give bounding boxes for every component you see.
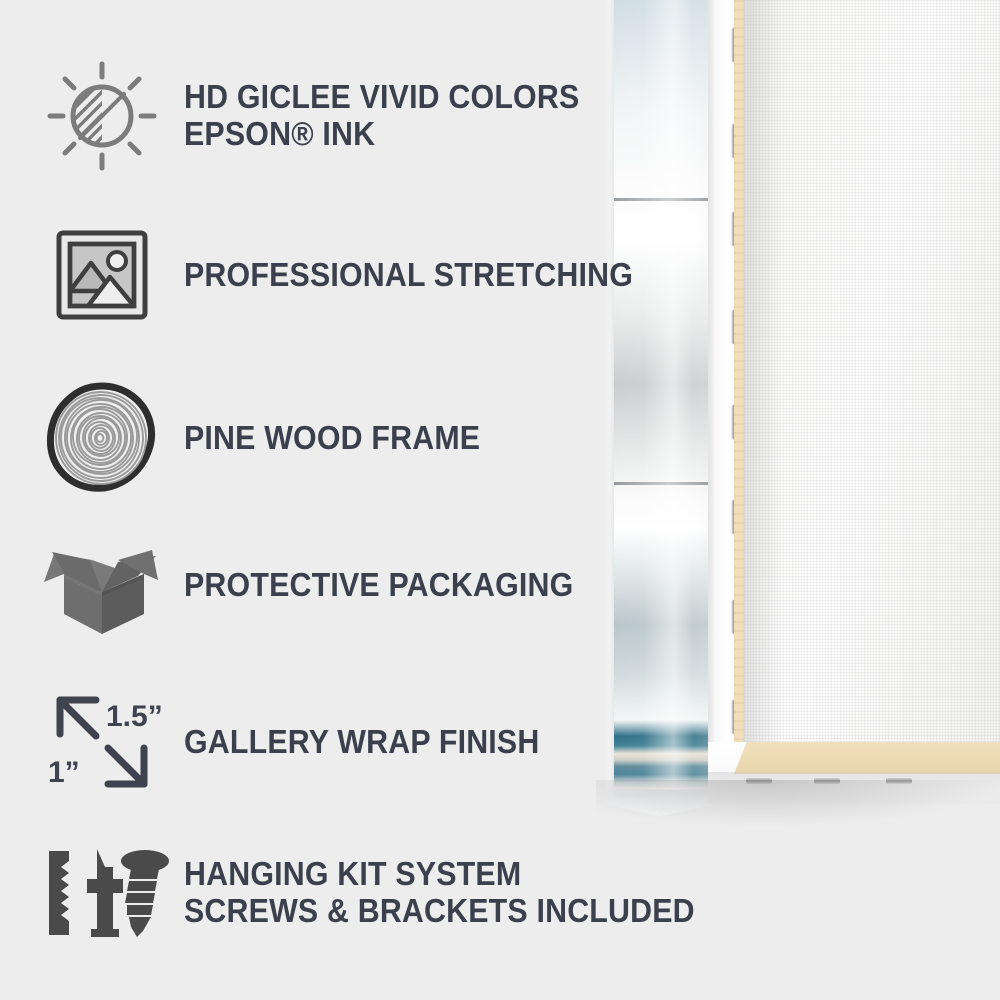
feature-label-line: PROFESSIONAL STRETCHING — [184, 257, 633, 294]
canvas-fold-line — [604, 482, 716, 485]
wood-rings-icon — [42, 382, 162, 494]
canvas-back-shadow — [744, 0, 784, 760]
hanging-hardware-icon — [42, 845, 162, 941]
feature-row-professional-stretching: PROFESSIONAL STRETCHING — [42, 225, 672, 325]
open-box-icon — [42, 530, 162, 640]
feature-label-line: HANGING KIT SYSTEM — [184, 856, 695, 893]
feature-label: HD GICLEE VIVID COLORS EPSON® INK — [184, 79, 579, 153]
feature-list: HD GICLEE VIVID COLORS EPSON® INK PROFES… — [0, 0, 600, 1000]
feature-label: PROTECTIVE PACKAGING — [184, 567, 573, 604]
feature-label: PROFESSIONAL STRETCHING — [184, 257, 633, 294]
stretched-canvas-photo — [596, 0, 1000, 818]
feature-row-pine-wood-frame: PINE WOOD FRAME — [42, 382, 506, 494]
canvas-fold-line — [604, 198, 716, 201]
feature-row-hd-giclee: HD GICLEE VIVID COLORS EPSON® INK — [42, 58, 614, 174]
depth-arrows-icon: 1.5” 1” — [42, 690, 162, 794]
feature-label-line: GALLERY WRAP FINISH — [184, 724, 539, 761]
framed-picture-icon — [42, 225, 162, 325]
feature-label: HANGING KIT SYSTEM SCREWS & BRACKETS INC… — [184, 856, 695, 930]
feature-label-line: SCREWS & BRACKETS INCLUDED — [184, 893, 695, 930]
feature-row-hanging-kit: HANGING KIT SYSTEM SCREWS & BRACKETS INC… — [42, 845, 739, 941]
photo-drop-shadow — [596, 780, 1000, 826]
feature-label: PINE WOOD FRAME — [184, 420, 480, 457]
feature-label-line: PROTECTIVE PACKAGING — [184, 567, 573, 604]
printed-artwork-edge — [604, 0, 716, 800]
feature-label: GALLERY WRAP FINISH — [184, 724, 539, 761]
sun-hd-print-icon — [42, 58, 162, 174]
feature-label-line: EPSON® INK — [184, 116, 579, 153]
bottom-wood-bevel — [734, 742, 1000, 774]
depth-measure-label: 1.5” — [106, 700, 163, 733]
feature-label-line: HD GICLEE VIVID COLORS — [184, 79, 579, 116]
feature-row-gallery-wrap: 1.5” 1” GALLERY WRAP FINISH — [42, 690, 570, 794]
artwork-sheen — [604, 0, 716, 800]
width-measure-label: 1” — [48, 756, 80, 789]
canvas-features-infographic: HD GICLEE VIVID COLORS EPSON® INK PROFES… — [0, 0, 1000, 1000]
feature-row-protective-packaging: PROTECTIVE PACKAGING — [42, 530, 607, 640]
feature-label-line: PINE WOOD FRAME — [184, 420, 480, 457]
